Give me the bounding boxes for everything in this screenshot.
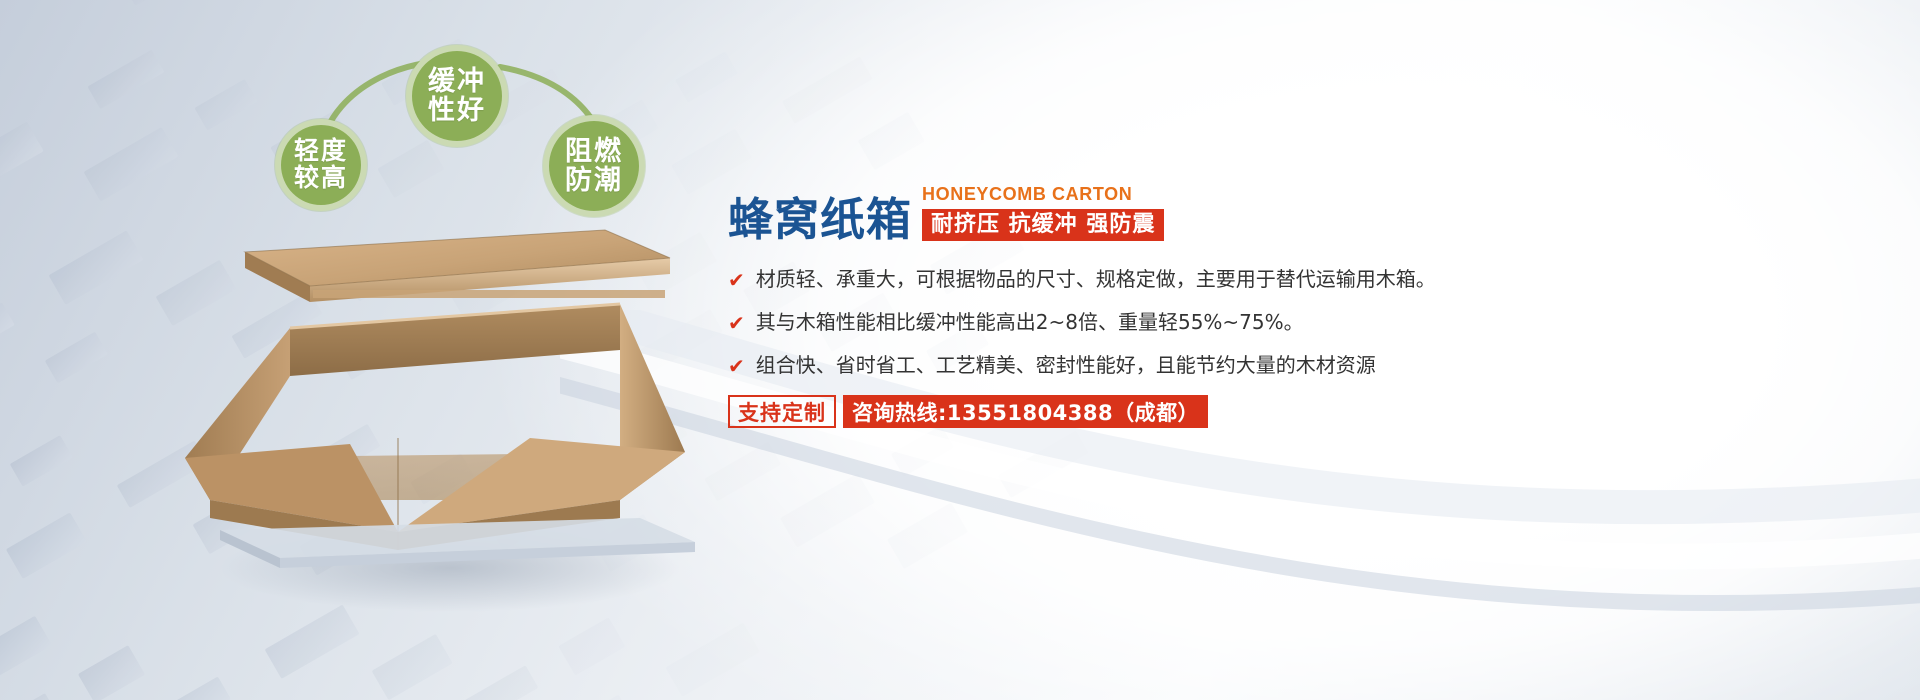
hotline-chip[interactable]: 咨询热线:13551804388（成都） [843,395,1208,428]
feature-badge-1-line1: 缓冲 [428,67,486,96]
feature-badge-1: 缓冲 性好 [406,45,508,147]
feature-badge-0: 轻度 较高 [275,119,367,211]
headline-row: 蜂窝纸箱 HONEYCOMB CARTON 耐挤压 抗缓冲 强防震 [728,186,1888,242]
bullet-text-1: 其与木箱性能相比缓冲性能高出2~8倍、重量轻55%~75%。 [756,309,1304,335]
check-icon: ✔ [728,357,745,377]
custom-order-chip: 支持定制 [728,395,836,428]
feature-badge-0-line1: 轻度 [294,138,348,165]
headline-secondary: HONEYCOMB CARTON 耐挤压 抗缓冲 强防震 [922,184,1164,242]
feature-badge-2-line1: 阻燃 [565,137,623,166]
contact-bar: 支持定制 咨询热线:13551804388（成都） [728,395,1888,428]
english-subtitle: HONEYCOMB CARTON [922,184,1164,205]
list-item: ✔ 其与木箱性能相比缓冲性能高出2~8倍、重量轻55%~75%。 [728,309,1888,335]
list-item: ✔ 组合快、省时省工、工艺精美、密封性能好，且能节约大量的木材资源 [728,352,1888,378]
feature-badge-2-line2: 防潮 [565,166,623,195]
feature-badge-2: 阻燃 防潮 [543,115,645,217]
feature-tag-badge: 耐挤压 抗缓冲 强防震 [922,209,1164,241]
feature-badge-0-line2: 较高 [294,165,348,192]
feature-badge-1-line2: 性好 [428,96,486,125]
bullet-text-2: 组合快、省时省工、工艺精美、密封性能好，且能节约大量的木材资源 [756,352,1376,378]
check-icon: ✔ [728,314,745,334]
bullet-text-0: 材质轻、承重大，可根据物品的尺寸、规格定做，主要用于替代运输用木箱。 [756,266,1436,292]
promo-banner: 轻度 较高 缓冲 性好 阻燃 防潮 蜂窝纸箱 HONEYCOMB CARTON … [0,0,1920,700]
carton-lid [245,230,670,302]
feature-badges-group: 轻度 较高 缓冲 性好 阻燃 防潮 [255,45,685,225]
check-icon: ✔ [728,271,745,291]
page-title: 蜂窝纸箱 [728,197,912,242]
honeycomb-carton-image [150,200,770,620]
banner-content: 蜂窝纸箱 HONEYCOMB CARTON 耐挤压 抗缓冲 强防震 ✔ 材质轻、… [728,186,1888,428]
carton-body [185,304,685,550]
feature-bullet-list: ✔ 材质轻、承重大，可根据物品的尺寸、规格定做，主要用于替代运输用木箱。 ✔ 其… [728,266,1888,378]
list-item: ✔ 材质轻、承重大，可根据物品的尺寸、规格定做，主要用于替代运输用木箱。 [728,266,1888,292]
